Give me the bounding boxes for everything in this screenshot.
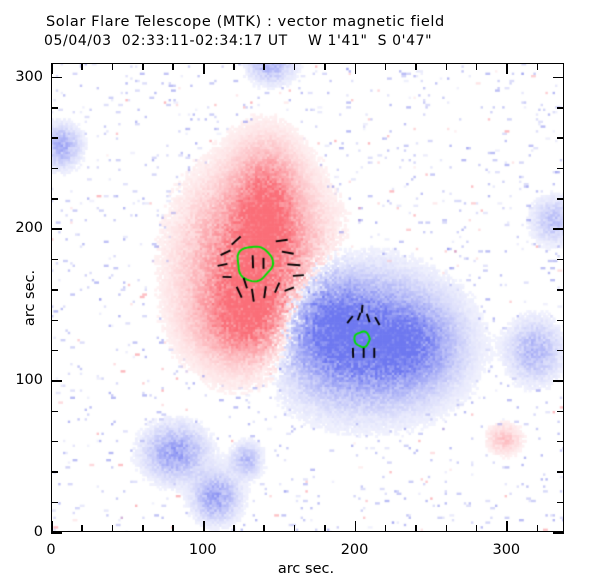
y-tick-0	[51, 532, 62, 534]
x-tick-top-300	[506, 63, 508, 74]
y-tick-right-140	[557, 320, 564, 322]
x-tick-80	[172, 525, 174, 532]
y-tick-right-260	[557, 137, 564, 139]
y-tick-label-300: 300	[0, 69, 43, 85]
y-tick-right-200	[553, 228, 564, 230]
x-tick-0	[51, 521, 53, 532]
magnetogram-plot-area	[51, 63, 564, 532]
y-tick-label-0: 0	[0, 524, 43, 540]
y-tick-right-220	[557, 198, 564, 200]
x-tick-top-60	[142, 63, 144, 70]
y-tick-220	[51, 198, 58, 200]
x-tick-top-100	[203, 63, 205, 74]
x-tick-top-20	[81, 63, 83, 70]
y-axis-title: arc sec.	[22, 270, 38, 326]
x-tick-top-40	[112, 63, 114, 70]
y-tick-260	[51, 137, 58, 139]
y-tick-right-0	[553, 532, 564, 534]
y-tick-right-100	[553, 380, 564, 382]
y-tick-80	[51, 411, 58, 413]
x-tick-top-200	[355, 63, 357, 74]
figure-subtitle: 05/04/03 02:33:11-02:34:17 UT W 1'41" S …	[44, 33, 432, 49]
y-tick-right-180	[557, 259, 564, 261]
x-tick-20	[81, 525, 83, 532]
y-tick-180	[51, 259, 58, 261]
x-tick-100	[203, 521, 205, 532]
y-tick-right-20	[557, 502, 564, 504]
x-tick-300	[506, 521, 508, 532]
x-tick-40	[112, 525, 114, 532]
figure-title: Solar Flare Telescope (MTK) : vector mag…	[46, 14, 445, 30]
x-tick-top-80	[172, 63, 174, 70]
magnetogram-figure: Solar Flare Telescope (MTK) : vector mag…	[0, 0, 612, 585]
y-tick-300	[51, 77, 62, 79]
x-tick-label-200: 200	[341, 542, 369, 558]
y-tick-40	[51, 471, 58, 473]
x-tick-top-160	[294, 63, 296, 70]
x-tick-top-120	[233, 63, 235, 70]
y-tick-right-240	[557, 168, 564, 170]
x-tick-220	[385, 525, 387, 532]
x-tick-280	[476, 525, 478, 532]
x-tick-top-140	[263, 63, 265, 70]
y-tick-280	[51, 107, 58, 109]
x-tick-240	[415, 525, 417, 532]
y-tick-right-120	[557, 350, 564, 352]
y-tick-160	[51, 289, 58, 291]
y-tick-120	[51, 350, 58, 352]
x-tick-top-280	[476, 63, 478, 70]
y-tick-20	[51, 502, 58, 504]
magnetic-field-map	[51, 63, 564, 532]
x-tick-label-100: 100	[189, 542, 217, 558]
y-tick-right-60	[557, 441, 564, 443]
x-tick-60	[142, 525, 144, 532]
x-tick-120	[233, 525, 235, 532]
x-tick-140	[263, 525, 265, 532]
x-axis-title: arc sec.	[0, 561, 612, 577]
x-tick-top-240	[415, 63, 417, 70]
y-tick-right-80	[557, 411, 564, 413]
x-tick-160	[294, 525, 296, 532]
x-tick-top-260	[446, 63, 448, 70]
y-tick-240	[51, 168, 58, 170]
x-tick-200	[355, 521, 357, 532]
y-tick-right-280	[557, 107, 564, 109]
x-tick-top-0	[51, 63, 53, 74]
x-tick-180	[324, 525, 326, 532]
y-tick-right-160	[557, 289, 564, 291]
x-tick-320	[537, 525, 539, 532]
x-tick-label-300: 300	[492, 542, 520, 558]
y-tick-right-40	[557, 471, 564, 473]
x-tick-top-320	[537, 63, 539, 70]
y-tick-label-200: 200	[0, 220, 43, 236]
y-tick-200	[51, 228, 62, 230]
x-tick-top-220	[385, 63, 387, 70]
x-tick-label-0: 0	[46, 542, 55, 558]
y-tick-right-300	[553, 77, 564, 79]
y-tick-100	[51, 380, 62, 382]
x-tick-260	[446, 525, 448, 532]
x-tick-top-180	[324, 63, 326, 70]
y-tick-140	[51, 320, 58, 322]
y-tick-label-100: 100	[0, 372, 43, 388]
y-tick-60	[51, 441, 58, 443]
